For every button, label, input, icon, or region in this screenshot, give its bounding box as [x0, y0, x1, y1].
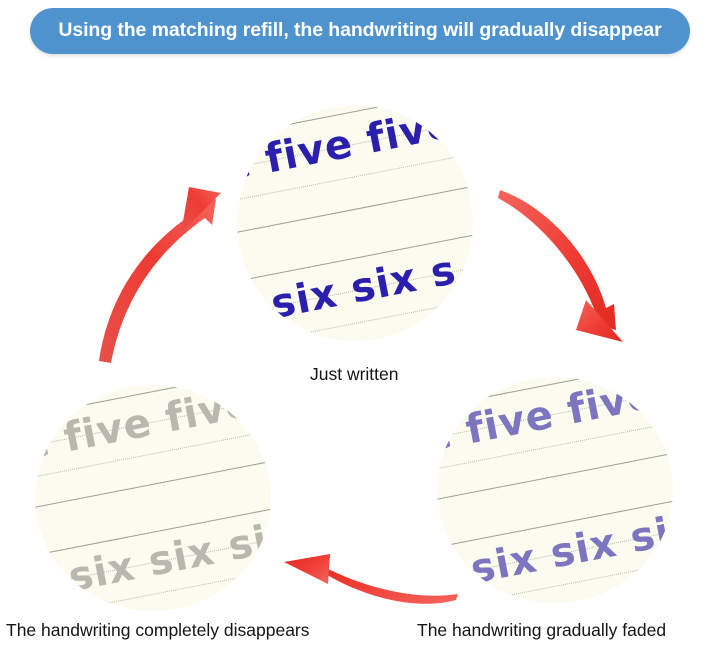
rule-line — [237, 310, 473, 341]
caption-gradually-faded: The handwriting gradually faded — [417, 621, 666, 640]
stage-image-completely-disappears: e five five six six six — [35, 385, 271, 611]
header-banner: Using the matching refill, the handwriti… — [30, 8, 690, 54]
arrow-body — [498, 190, 616, 330]
stage-image-just-written: e five five six six s — [237, 105, 473, 341]
ruled-paper-fresh: e five five six six s — [237, 105, 473, 341]
arrow-body — [304, 560, 458, 604]
caption-completely-disappears: The handwriting completely disappears — [6, 621, 310, 640]
ruled-paper-faded: e five five six six six — [437, 377, 673, 603]
stage-image-gradually-faded: e five five six six six — [437, 377, 673, 603]
arrow-faded-to-gone — [270, 548, 460, 610]
handwriting-line: e five five — [35, 385, 271, 466]
arrow-fresh-to-faded — [490, 180, 640, 355]
handwriting-line: e five five — [437, 377, 673, 458]
ruled-paper-gone: e five five six six six — [35, 385, 271, 611]
arrow-body — [99, 199, 216, 363]
arrow-gone-to-fresh — [85, 185, 230, 365]
header-banner-text: Using the matching refill, the handwriti… — [58, 21, 661, 41]
arrowhead — [576, 300, 623, 342]
arrowhead — [284, 554, 330, 584]
caption-just-written: Just written — [310, 365, 399, 384]
arrowhead — [181, 187, 221, 233]
